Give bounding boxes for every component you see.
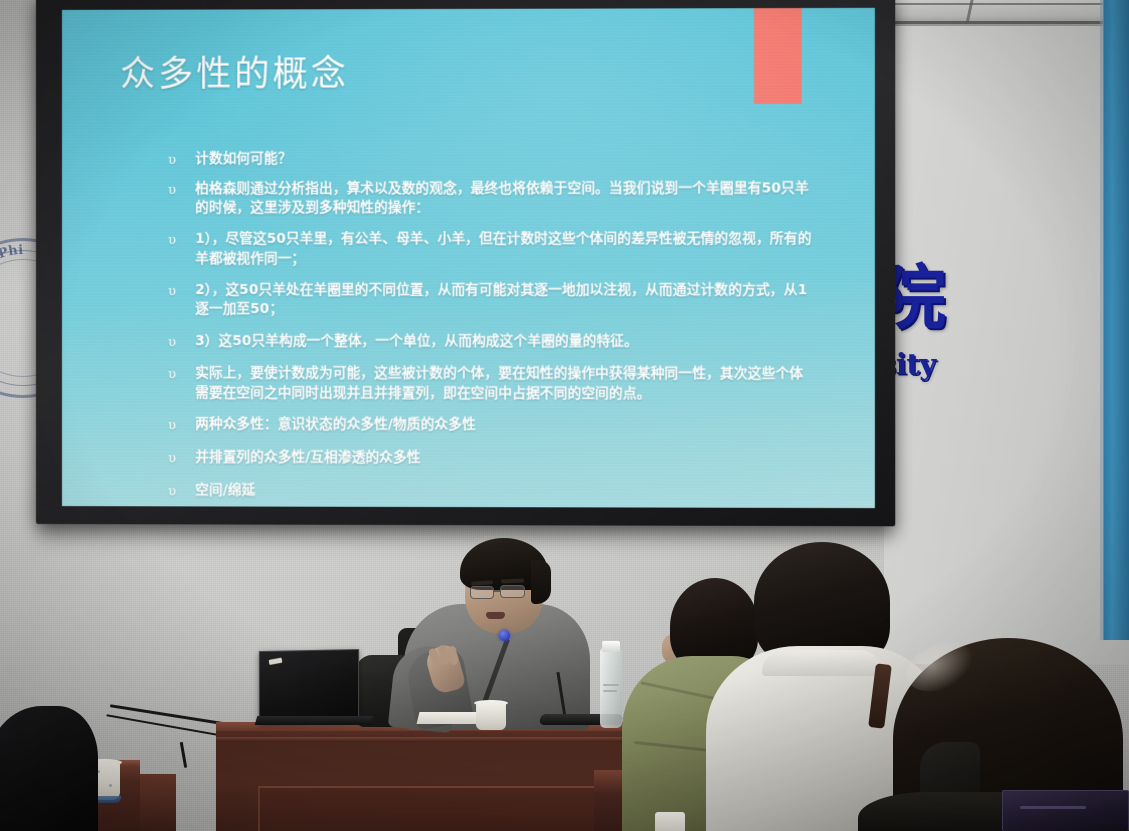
presentation-slide: 众多性的概念 υ 计数如何可能？ υ 柏格森则通过分析指出，算术以及数的观念，最… [62,8,875,508]
svg-text:School of Phi: School of Phi [0,243,23,315]
bottom-paper-cup [655,812,685,831]
slide-accent-rectangle [754,8,802,104]
bullet-text: 两种众多性：意识状态的众多性/物质的众多性 [195,415,814,435]
bullet-marker-icon: υ [168,448,195,469]
blue-pillar-edge [1100,0,1104,640]
desk-left-extension [140,774,176,831]
speaker-eyebrow-right [501,579,524,584]
water-bottle [600,648,622,728]
ceramic-cup-dot-2 [109,784,112,787]
slide-title: 众多性的概念 [120,45,349,97]
bullet-marker-icon: υ [168,150,195,171]
bullet-text: 1），尽管这50只羊里，有公羊、母羊、小羊，但在计数时这些个体间的差异性被无情的… [195,230,814,269]
list-item: υ 2），这50只羊处在羊圈里的不同位置，从而有可能对其逐一地加以注视，从而通过… [168,281,814,320]
bottle-label-line-2 [603,690,617,692]
desk-front-panel [258,786,613,831]
speaker-hair-side [531,560,551,604]
laptop-base [255,716,374,725]
list-item: υ 空间/绵延 [168,481,814,503]
bullet-marker-icon: υ [168,230,195,251]
audience-laptop-screen-content [1020,806,1086,809]
audience-laptop [1002,790,1129,831]
bullet-text: 2），这50只羊处在羊圈里的不同位置，从而有可能对其逐一地加以注视，从而通过计数… [195,281,814,320]
bullet-text: 空间/绵延 [195,481,814,502]
bullet-marker-icon: υ [168,332,195,353]
bullet-text: 并排置列的众多性/互相渗透的众多性 [195,448,814,469]
wall-right-section [884,24,1129,664]
bullet-text: 柏格森则通过分析指出，算术以及数的观念，最终也将依赖于空间。当我们说到一个羊圈里… [195,179,814,218]
list-item: υ 两种众多性：意识状态的众多性/物质的众多性 [168,415,814,437]
speaker-eyeglass-bridge [493,590,501,592]
bullet-marker-icon: υ [168,281,195,302]
bullet-text: 3）这50只羊构成一个整体，一个单位，从而构成这个羊圈的量的特征。 [195,332,814,352]
speaker-mouth [486,612,505,619]
bullet-marker-icon: υ [168,415,195,436]
projection-screen-frame: 众多性的概念 υ 计数如何可能？ υ 柏格森则通过分析指出，算术以及数的观念，最… [36,0,895,526]
papers [417,712,482,724]
slide-bullet-list: υ 计数如何可能？ υ 柏格森则通过分析指出，算术以及数的观念，最终也将依赖于空… [168,149,814,508]
water-bottle-cap [602,641,620,652]
bottle-label-line-1 [603,684,619,686]
lecture-hall-photo: School of Phi 院 sity 众多性的概念 υ 计数如何可能？ υ … [0,0,1129,831]
list-item: υ 3）这50只羊构成一个整体，一个单位，从而构成这个羊圈的量的特征。 [168,332,814,353]
ceiling-rail-top [884,3,1129,5]
list-item: υ 1），尽管这50只羊里，有公羊、母羊、小羊，但在计数时这些个体间的差异性被无… [168,230,814,269]
audience-white-collar [762,650,882,676]
bullet-marker-icon: υ [168,180,195,201]
list-item: υ 实际上，要使计数成为可能，这些被计数的个体，要在知性的操作中获得某种同一性，… [168,365,814,405]
desk-lip [216,737,648,742]
bullet-marker-icon: υ [168,365,195,386]
audience-white-head [754,542,890,662]
bullet-marker-icon: υ [168,481,195,502]
speaker-eyeglass-left [470,586,494,599]
blue-pillar [1103,0,1129,640]
audience-member-left [0,706,98,831]
bullet-text: 实际上，要使计数成为可能，这些被计数的个体，要在知性的操作中获得某种同一性，其次… [195,365,814,405]
paper-cup [476,702,506,730]
list-item: υ 并排置列的众多性/互相渗透的众多性 [168,448,814,470]
laptop-label-sticker [269,658,283,665]
laptop-screen [259,649,359,724]
speaker-eyeglass-right [500,585,525,598]
list-item: υ 计数如何可能？ [168,149,814,171]
speaker-badge-icon [499,630,510,641]
ceiling-rail-bottom [884,21,1129,24]
list-item: υ 柏格森则通过分析指出，算术以及数的观念，最终也将依赖于空间。当我们说到一个羊… [168,179,814,218]
bullet-text: 计数如何可能？ [195,149,814,169]
